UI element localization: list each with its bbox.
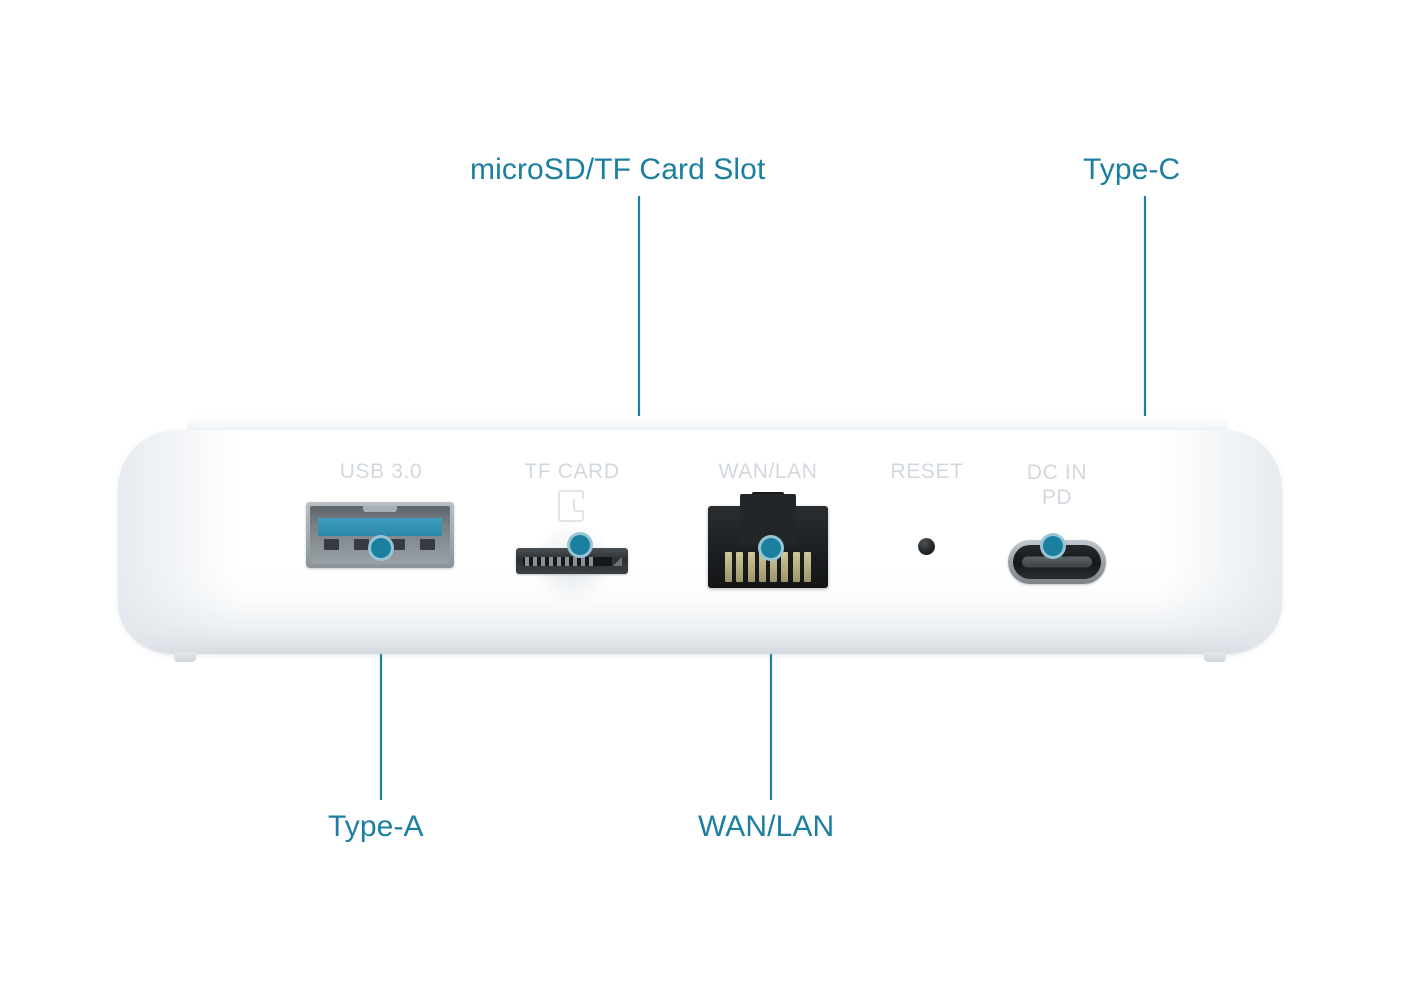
tf-slot-keyed-corner bbox=[613, 557, 622, 566]
silkscreen-usb-label: USB 3.0 bbox=[340, 460, 422, 484]
silkscreen-tf-label: TF CARD bbox=[524, 460, 619, 484]
callout-label-microsd: microSD/TF Card Slot bbox=[470, 153, 765, 187]
silkscreen-dcin-label-line2: PD bbox=[1042, 485, 1072, 510]
rj45-pin bbox=[748, 552, 755, 582]
silkscreen-reset-label: RESET bbox=[890, 460, 963, 484]
tf-pin bbox=[525, 557, 529, 566]
device-front-face: USB 3.0 TF CARD WAN/LAN RESET DC IN PD bbox=[118, 430, 1282, 654]
callout-label-wanlan: WAN/LAN bbox=[698, 810, 834, 844]
tf-pin bbox=[549, 557, 553, 566]
tf-pin bbox=[573, 557, 577, 566]
anchor-dot-wanlan bbox=[758, 535, 784, 561]
callout-label-typec: Type-C bbox=[1083, 153, 1180, 187]
anchor-dot-microsd bbox=[567, 532, 593, 558]
tf-pin bbox=[565, 557, 569, 566]
rj45-pin bbox=[781, 552, 788, 582]
anchor-dot-typec bbox=[1040, 533, 1066, 559]
usb-a-pin bbox=[420, 539, 435, 550]
usb-a-pin bbox=[354, 539, 369, 550]
silkscreen-dcin-label-line1: DC IN bbox=[1027, 460, 1087, 485]
callout-label-typea: Type-A bbox=[328, 810, 424, 844]
anchor-dot-typea bbox=[368, 535, 394, 561]
rj45-pin bbox=[793, 552, 800, 582]
tf-pin bbox=[541, 557, 545, 566]
tf-slot-opening bbox=[523, 557, 612, 566]
device-foot-right bbox=[1204, 652, 1226, 662]
rj45-pin bbox=[804, 552, 811, 582]
usb-a-blue-tab bbox=[318, 518, 442, 536]
usb-a-pin bbox=[324, 539, 339, 550]
rj45-pin bbox=[736, 552, 743, 582]
usb-a-notch bbox=[363, 506, 397, 512]
tf-pin bbox=[533, 557, 537, 566]
tf-pin bbox=[557, 557, 561, 566]
sd-card-icon bbox=[558, 490, 584, 522]
silkscreen-wanlan-label: WAN/LAN bbox=[718, 460, 817, 484]
tf-pin bbox=[581, 557, 585, 566]
rj45-pin bbox=[725, 552, 732, 582]
reset-pinhole-button[interactable] bbox=[918, 538, 935, 555]
device-foot-left bbox=[174, 652, 196, 662]
product-diagram: microSD/TF Card Slot Type-C Type-A WAN/L… bbox=[0, 0, 1410, 1000]
tf-pin bbox=[589, 557, 593, 566]
